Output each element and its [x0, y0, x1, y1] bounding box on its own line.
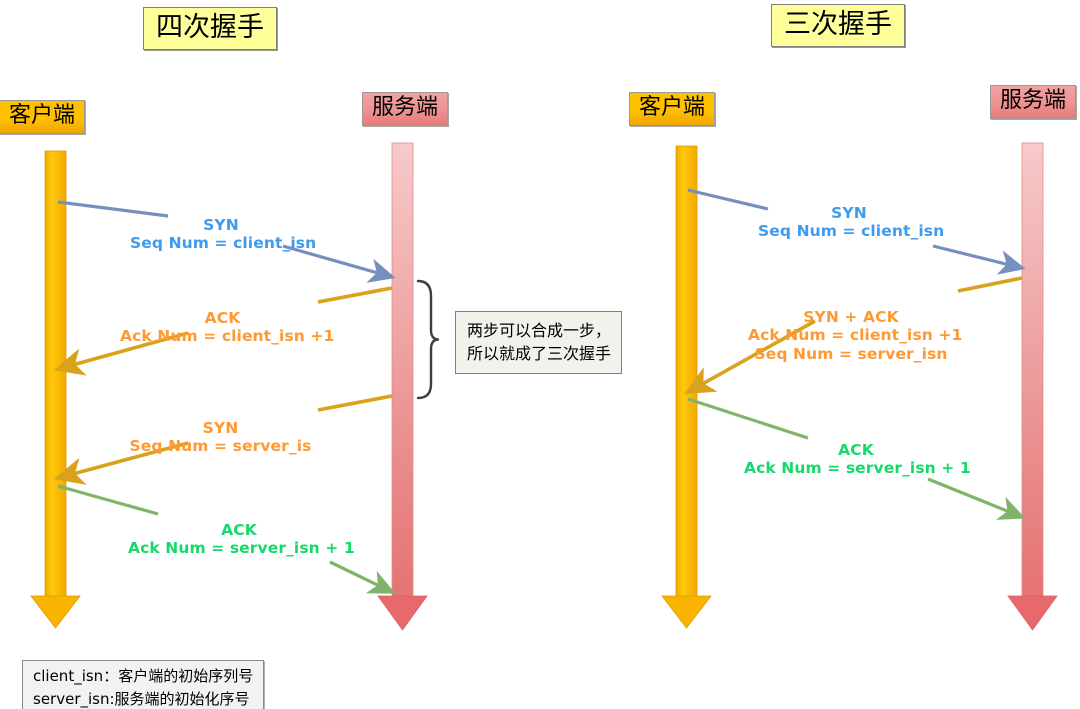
- note-box-merge-explanation: 两步可以合成一步， 所以就成了三次握手: [455, 311, 622, 374]
- timeline-client-left: [31, 151, 80, 628]
- legend-key-client-isn: client_isn：: [33, 667, 118, 685]
- message-label-right-ack: ACK Ack Num = server_isn + 1: [744, 441, 968, 478]
- legend-row: server_isn:服务端的初始化序号: [33, 688, 253, 709]
- message-header: SYN: [128, 419, 313, 437]
- role-box-client-right: 客户端: [629, 92, 715, 126]
- timeline-server-left: [378, 143, 427, 630]
- timeline-client-right: [662, 146, 711, 628]
- message-label-left-ack-1: ACK Ack Num = client_isn +1: [120, 309, 325, 346]
- message-header: ACK: [120, 309, 325, 327]
- title-four-way-handshake: 四次握手: [143, 7, 277, 50]
- diagram-canvas: 四次握手 客户端 服务端 SYN Seq Num = client_isn AC…: [0, 0, 1080, 709]
- message-label-left-ack-2: ACK Ack Num = server_isn + 1: [128, 521, 350, 558]
- timeline-server-right: [1008, 143, 1057, 630]
- message-body: Ack Num = server_isn + 1: [744, 459, 968, 477]
- message-label-left-syn-1: SYN Seq Num = client_isn: [130, 216, 312, 253]
- message-body: Seq Num = client_isn: [758, 222, 940, 240]
- legend-value-client-isn: 客户端的初始序列号: [118, 667, 253, 685]
- message-body: Ack Num = client_isn +1: [748, 326, 954, 344]
- message-label-right-synack: SYN + ACK Ack Num = client_isn +1 Seq Nu…: [748, 308, 954, 363]
- role-box-server-left: 服务端: [362, 92, 448, 126]
- message-header: ACK: [128, 521, 350, 539]
- legend-value-server-isn: 服务端的初始化序号: [115, 690, 250, 708]
- title-three-way-handshake: 三次握手: [771, 4, 905, 47]
- message-header: SYN: [130, 216, 312, 234]
- message-header: ACK: [744, 441, 968, 459]
- role-box-server-right: 服务端: [990, 85, 1076, 119]
- message-label-right-syn: SYN Seq Num = client_isn: [758, 204, 940, 241]
- message-body-2: Seq Num = server_isn: [748, 345, 954, 363]
- note-line-2: 所以就成了三次握手: [467, 342, 611, 365]
- legend-row: client_isn：客户端的初始序列号: [33, 665, 253, 688]
- role-box-client-left: 客户端: [0, 100, 85, 134]
- legend-key-server-isn: server_isn:: [33, 690, 115, 708]
- grouping-brace: [418, 281, 438, 398]
- message-body: Seq Num = server_is: [128, 437, 313, 455]
- message-header: SYN + ACK: [748, 308, 954, 326]
- message-header: SYN: [758, 204, 940, 222]
- message-body: Seq Num = client_isn: [130, 234, 312, 252]
- note-line-1: 两步可以合成一步，: [467, 319, 611, 342]
- message-body: Ack Num = client_isn +1: [120, 327, 325, 345]
- message-label-left-syn-2: SYN Seq Num = server_is: [128, 419, 313, 456]
- message-body: Ack Num = server_isn + 1: [128, 539, 350, 557]
- legend-box: client_isn：客户端的初始序列号 server_isn:服务端的初始化序…: [22, 660, 264, 709]
